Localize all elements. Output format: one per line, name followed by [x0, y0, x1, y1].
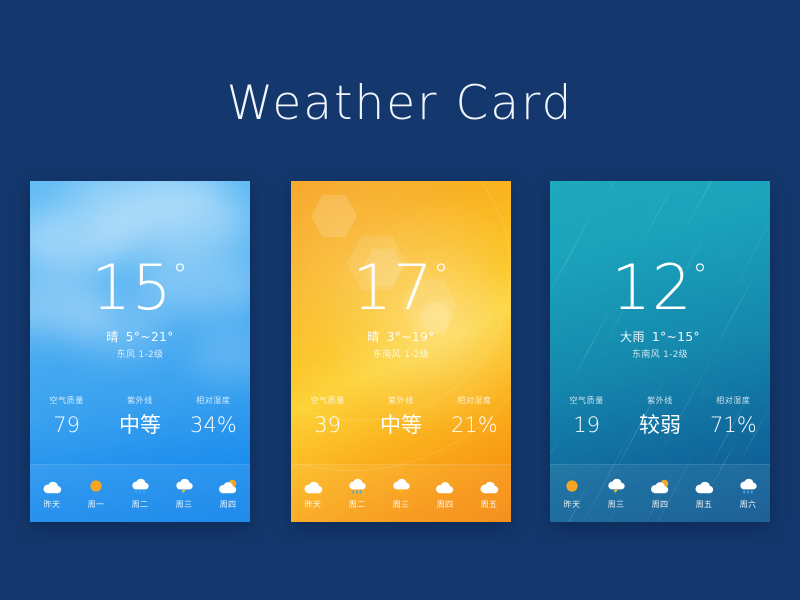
metric-label: 空气质量 [550, 395, 623, 406]
forecast-strip: 昨天 周一 周二 周三 [30, 464, 250, 522]
weather-card-sunny-orange[interactable]: 17° 晴3°~19° 东南风 1-2级 空气质量 39 紫外线 中等 [291, 181, 511, 522]
metric-uv-index: 紫外线 较弱 [623, 395, 696, 436]
metric-label: 空气质量 [30, 395, 103, 406]
metric-value: 71% [697, 415, 770, 436]
metric-humidity: 相对湿度 34% [177, 395, 250, 436]
wind-info: 东南风 1-2级 [550, 347, 770, 360]
forecast-day-label: 周二 [349, 499, 366, 510]
forecast-day-label: 周三 [176, 499, 193, 510]
lightning-cloud-icon [173, 478, 195, 494]
forecast-day-label: 周一 [88, 499, 105, 510]
forecast-day[interactable]: 周四 [423, 478, 467, 510]
temperature-display: 12° [550, 257, 770, 319]
forecast-day[interactable]: 周五 [682, 478, 726, 510]
forecast-day-label: 周二 [132, 499, 149, 510]
forecast-day-label: 周四 [220, 499, 237, 510]
lightning-cloud-icon [390, 478, 412, 494]
sun-cloud-icon [434, 478, 456, 494]
metric-value: 39 [291, 415, 364, 436]
metric-label: 紫外线 [103, 395, 176, 406]
metric-value: 较弱 [623, 415, 696, 436]
metric-air-quality: 空气质量 79 [30, 395, 103, 436]
metric-value: 19 [550, 415, 623, 436]
metrics-row: 空气质量 39 紫外线 中等 相对湿度 21% [291, 395, 511, 436]
forecast-day[interactable]: 周四 [206, 478, 250, 510]
rain-cloud-icon [129, 478, 151, 494]
page-title: Weather Card [0, 76, 800, 131]
metrics-row: 空气质量 19 紫外线 较弱 相对湿度 71% [550, 395, 770, 436]
forecast-day-label: 昨天 [305, 499, 322, 510]
forecast-day[interactable]: 昨天 [291, 478, 335, 510]
metric-value: 79 [30, 415, 103, 436]
page-root: Weather Card 15° 晴5°~21° 东风 1-2级 [0, 0, 800, 600]
forecast-day[interactable]: 周二 [118, 478, 162, 510]
forecast-day[interactable]: 周三 [162, 478, 206, 510]
metric-humidity: 相对湿度 71% [697, 395, 770, 436]
rain-cloud-icon [346, 478, 368, 494]
wind-info: 东南风 1-2级 [291, 347, 511, 360]
forecast-day[interactable]: 周五 [467, 478, 511, 510]
condition-summary: 晴5°~21° [30, 328, 250, 345]
forecast-day[interactable]: 周一 [74, 478, 118, 510]
weather-card-rainy-teal[interactable]: 12° 大雨1°~15° 东南风 1-2级 空气质量 19 紫外线 较弱 [550, 181, 770, 522]
metric-value: 34% [177, 415, 250, 436]
metrics-row: 空气质量 79 紫外线 中等 相对湿度 34% [30, 395, 250, 436]
forecast-day-label: 周四 [437, 499, 454, 510]
cloud-icon [302, 478, 324, 494]
metric-label: 紫外线 [364, 395, 437, 406]
sun-icon [561, 478, 583, 494]
forecast-day[interactable]: 周二 [335, 478, 379, 510]
sun-icon [85, 478, 107, 494]
metric-value: 21% [438, 415, 511, 436]
forecast-day-label: 周六 [740, 499, 757, 510]
forecast-day-label: 昨天 [564, 499, 581, 510]
metric-label: 紫外线 [623, 395, 696, 406]
temperature-display: 17° [291, 257, 511, 319]
cloud-icon [693, 478, 715, 494]
forecast-day[interactable]: 周三 [379, 478, 423, 510]
forecast-day-label: 昨天 [44, 499, 61, 510]
forecast-day[interactable]: 周三 [594, 478, 638, 510]
metric-air-quality: 空气质量 39 [291, 395, 364, 436]
lightning-cloud-icon [605, 478, 627, 494]
forecast-day-label: 周三 [608, 499, 625, 510]
forecast-day-label: 周三 [393, 499, 410, 510]
forecast-day-label: 周四 [652, 499, 669, 510]
cloud-icon [478, 478, 500, 494]
metric-uv-index: 紫外线 中等 [103, 395, 176, 436]
condition-summary: 大雨1°~15° [550, 328, 770, 345]
metric-label: 空气质量 [291, 395, 364, 406]
forecast-strip: 昨天 周三 周四 周五 [550, 464, 770, 522]
forecast-day[interactable]: 昨天 [30, 478, 74, 510]
metric-air-quality: 空气质量 19 [550, 395, 623, 436]
metric-value: 中等 [364, 415, 437, 436]
forecast-day[interactable]: 周六 [726, 478, 770, 510]
sun-cloud-icon [649, 478, 671, 494]
temperature-display: 15° [30, 257, 250, 319]
metric-uv-index: 紫外线 中等 [364, 395, 437, 436]
sun-cloud-icon [217, 478, 239, 494]
forecast-day[interactable]: 昨天 [550, 478, 594, 510]
condition-summary: 晴3°~19° [291, 328, 511, 345]
metric-label: 相对湿度 [177, 395, 250, 406]
weather-card-sunny-blue[interactable]: 15° 晴5°~21° 东风 1-2级 空气质量 79 紫外线 中等 [30, 181, 250, 522]
rain-cloud-icon [737, 478, 759, 494]
metric-label: 相对湿度 [697, 395, 770, 406]
forecast-strip: 昨天 周二 周三 周四 [291, 464, 511, 522]
forecast-day[interactable]: 周四 [638, 478, 682, 510]
wind-info: 东风 1-2级 [30, 347, 250, 360]
metric-label: 相对湿度 [438, 395, 511, 406]
metric-value: 中等 [103, 415, 176, 436]
forecast-day-label: 周五 [481, 499, 498, 510]
weather-card-list: 15° 晴5°~21° 东风 1-2级 空气质量 79 紫外线 中等 [0, 181, 800, 522]
forecast-day-label: 周五 [696, 499, 713, 510]
cloud-icon [41, 478, 63, 494]
metric-humidity: 相对湿度 21% [438, 395, 511, 436]
